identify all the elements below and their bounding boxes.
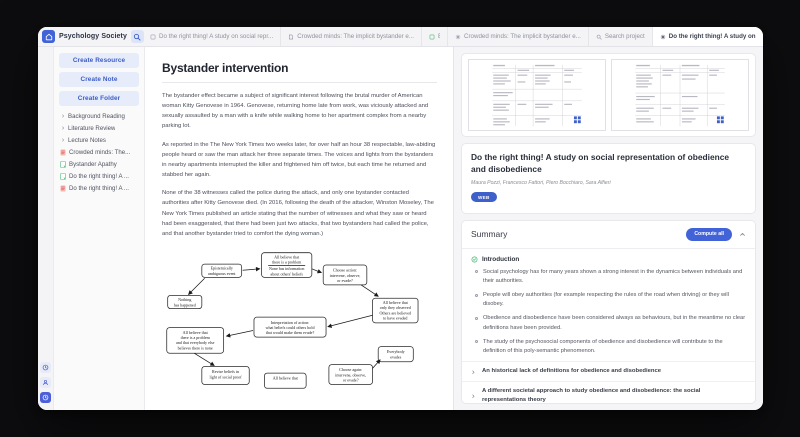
document-pane: Bystander intervention The bystander eff… bbox=[145, 47, 453, 410]
svg-text:evades: evades bbox=[390, 354, 401, 359]
sidebar-item-background-reading[interactable]: Background Reading bbox=[59, 110, 139, 122]
create-folder-button[interactable]: Create Folder bbox=[59, 91, 139, 106]
tab-0[interactable]: Do the right thing! A study on social re… bbox=[143, 27, 281, 46]
svg-text:All believe that: All believe that bbox=[273, 376, 299, 381]
pdf-page-thumbnail-1[interactable] bbox=[468, 59, 606, 131]
pdf-icon bbox=[60, 185, 66, 192]
app-window: Psychology Society Do the right thing! A… bbox=[38, 27, 763, 410]
search-icon[interactable] bbox=[131, 30, 144, 43]
svg-text:Epistemically: Epistemically bbox=[211, 266, 234, 271]
tab-1[interactable]: Crowded minds: The implicit bystander e.… bbox=[281, 27, 422, 46]
svg-text:Nothing: Nothing bbox=[178, 297, 191, 302]
pdf-icon bbox=[288, 34, 294, 40]
bullet-text: The study of the psychosocial components… bbox=[483, 338, 746, 356]
home-icon[interactable] bbox=[42, 30, 55, 43]
sidebar-item-literature-review[interactable]: Literature Review bbox=[59, 122, 139, 134]
tab-label: B bbox=[438, 33, 440, 40]
paper-title: Do the right thing! A study on social re… bbox=[471, 152, 746, 176]
svg-text:Others are believed: Others are believed bbox=[379, 310, 411, 315]
tab-label: Search project bbox=[605, 33, 645, 40]
svg-text:Everybody: Everybody bbox=[387, 349, 406, 354]
svg-text:there is a problem: there is a problem bbox=[181, 335, 211, 340]
sparkle-icon bbox=[660, 34, 666, 40]
svg-text:ambiguous event: ambiguous event bbox=[208, 271, 237, 276]
summary-section-societal-approach[interactable]: A different societal approach to study o… bbox=[462, 381, 755, 410]
svg-text:All believe that: All believe that bbox=[383, 300, 409, 305]
svg-text:only they observed: only they observed bbox=[380, 305, 411, 310]
sidebar-item-label: Lecture Notes bbox=[68, 137, 106, 144]
search-icon bbox=[596, 34, 602, 40]
svg-text:there is a problem: there is a problem bbox=[272, 260, 302, 265]
svg-text:what beliefs could others hold: what beliefs could others hold bbox=[266, 325, 315, 330]
account-icon[interactable] bbox=[40, 377, 51, 388]
sidebar-item-label: Crowded minds: The... bbox=[69, 149, 130, 156]
paragraph-3: None of the 38 witnesses called the poli… bbox=[162, 188, 437, 239]
svg-text:All believe that: All believe that bbox=[274, 254, 300, 259]
paper-authors: Maura Pozzi, Francesco Fattori, Piero Bo… bbox=[471, 180, 746, 186]
note-icon bbox=[150, 34, 156, 40]
file-tree: Background Reading Literature Review Lec… bbox=[59, 110, 139, 194]
create-resource-button[interactable]: Create Resource bbox=[59, 53, 139, 68]
sidebar-item-label: Do the right thing! A ... bbox=[69, 173, 129, 180]
left-rail bbox=[38, 47, 54, 410]
tab-5-active[interactable]: Do the right thing! A study on bbox=[653, 27, 763, 46]
chevron-right-icon bbox=[471, 394, 476, 399]
paper-metadata-card: Do the right thing! A study on social re… bbox=[461, 143, 756, 214]
history-icon[interactable] bbox=[40, 362, 51, 373]
tab-3[interactable]: Crowded minds: The implicit bystander e.… bbox=[448, 27, 589, 46]
brand-zone: Psychology Society bbox=[38, 27, 143, 46]
tab-2[interactable]: B bbox=[422, 27, 448, 46]
svg-text:Revise beliefs in: Revise beliefs in bbox=[212, 369, 239, 374]
bullet-dot-icon bbox=[475, 340, 478, 343]
sidebar-item-label: Do the right thing! A ... bbox=[69, 185, 129, 192]
title-bar: Psychology Society Do the right thing! A… bbox=[38, 27, 763, 47]
page-title: Bystander intervention bbox=[162, 61, 437, 75]
sidebar-item-label: Background Reading bbox=[68, 113, 125, 120]
paragraph-1: The bystander effect became a subject of… bbox=[162, 91, 437, 132]
tab-strip: Do the right thing! A study on social re… bbox=[143, 27, 763, 46]
svg-text:about others' beliefs: about others' beliefs bbox=[270, 271, 303, 276]
sidebar-item-do-the-right-thing-pdf[interactable]: Do the right thing! A ... bbox=[59, 182, 139, 194]
svg-text:light of social proof: light of social proof bbox=[209, 374, 242, 379]
section-title: Introduction bbox=[482, 256, 519, 263]
summary-section-introduction: Introduction Social psychology has for m… bbox=[462, 249, 755, 362]
svg-text:or evade?: or evade? bbox=[343, 378, 359, 383]
compute-all-button[interactable]: Compute all bbox=[686, 228, 732, 241]
note-icon bbox=[60, 161, 66, 168]
tab-label: Do the right thing! A study on bbox=[669, 33, 756, 40]
sidebar-item-do-the-right-thing-note[interactable]: Do the right thing! A ... bbox=[59, 170, 139, 182]
paragraph-2: As reported in the The New York Times tw… bbox=[162, 140, 437, 181]
tab-4[interactable]: Search project bbox=[589, 27, 653, 46]
svg-text:Choose action:: Choose action: bbox=[333, 268, 357, 273]
svg-text:Interpretation of action:: Interpretation of action: bbox=[271, 320, 310, 325]
section-title: An historical lack of definitions for ob… bbox=[482, 367, 661, 376]
section-title: A different societal approach to study o… bbox=[482, 387, 746, 405]
tab-label: Crowded minds: The implicit bystander e.… bbox=[297, 33, 414, 40]
tab-label: Crowded minds: The implicit bystander e.… bbox=[464, 33, 581, 40]
sidebar: Create Resource Create Note Create Folde… bbox=[54, 47, 145, 410]
pdf-icon bbox=[60, 149, 66, 156]
window-body: Create Resource Create Note Create Folde… bbox=[38, 47, 763, 410]
svg-text:All believe that: All believe that bbox=[183, 330, 209, 335]
chevron-right-icon bbox=[60, 126, 65, 131]
chevron-up-icon[interactable] bbox=[738, 230, 746, 238]
title-divider bbox=[162, 82, 437, 83]
right-panel: Do the right thing! A study on social re… bbox=[453, 47, 763, 410]
sidebar-item-crowded-minds[interactable]: Crowded minds: The... bbox=[59, 146, 139, 158]
section-label-row[interactable]: Introduction bbox=[471, 256, 746, 263]
sparkle-icon bbox=[455, 34, 461, 40]
summary-header: Summary Compute all bbox=[462, 221, 755, 249]
svg-text:and that everybody else: and that everybody else bbox=[176, 340, 215, 345]
bullet-text: Obedience and disobedience have been con… bbox=[483, 314, 746, 332]
note-icon bbox=[429, 34, 435, 40]
sidebar-item-label: Literature Review bbox=[68, 125, 115, 132]
bullet-text: Social psychology has for many years sho… bbox=[483, 268, 746, 286]
status-badge: WEB bbox=[471, 192, 497, 202]
project-title: Psychology Society bbox=[59, 33, 127, 40]
list-item: Obedience and disobedience have been con… bbox=[475, 314, 746, 332]
list-item: The study of the psychosocial components… bbox=[475, 338, 746, 356]
assistant-icon[interactable] bbox=[40, 392, 51, 403]
chevron-right-icon bbox=[471, 369, 476, 374]
bullet-text: People will obey authorities (for exampl… bbox=[483, 291, 746, 309]
chevron-right-icon bbox=[60, 138, 65, 143]
svg-text:to have evaded: to have evaded bbox=[383, 316, 407, 321]
svg-text:believes there is none: believes there is none bbox=[178, 345, 213, 350]
svg-text:or evade?: or evade? bbox=[337, 278, 353, 283]
summary-section-historical-lack[interactable]: An historical lack of definitions for ob… bbox=[462, 361, 755, 381]
pdf-preview-card bbox=[461, 53, 756, 137]
list-item: Social psychology has for many years sho… bbox=[475, 268, 746, 286]
bullet-dot-icon bbox=[475, 317, 478, 320]
sidebar-item-label: Bystander Apathy bbox=[69, 161, 117, 168]
summary-heading: Summary bbox=[471, 229, 680, 239]
sidebar-item-bystander-apathy[interactable]: Bystander Apathy bbox=[59, 158, 139, 170]
svg-text:None has information: None has information bbox=[269, 266, 304, 271]
check-circle-icon bbox=[471, 256, 478, 263]
chevron-right-icon bbox=[60, 114, 65, 119]
svg-text:that would make them evade?: that would make them evade? bbox=[266, 330, 315, 335]
sidebar-item-lecture-notes[interactable]: Lecture Notes bbox=[59, 134, 139, 146]
svg-text:has happened: has happened bbox=[174, 302, 196, 307]
note-icon bbox=[60, 173, 66, 180]
list-item: People will obey authorities (for exampl… bbox=[475, 291, 746, 309]
svg-text:Choose again:: Choose again: bbox=[339, 367, 362, 372]
create-note-button[interactable]: Create Note bbox=[59, 72, 139, 87]
pdf-page-thumbnail-2[interactable] bbox=[611, 59, 749, 131]
bullet-dot-icon bbox=[475, 270, 478, 273]
bystander-flowchart-figure: .nb { fill:#fff; stroke:#2a2a2a; stroke-… bbox=[162, 247, 437, 397]
tab-label: Do the right thing! A study on social re… bbox=[159, 33, 273, 40]
summary-bullets: Social psychology has for many years sho… bbox=[471, 268, 746, 357]
summary-card: Summary Compute all Introduction Social … bbox=[461, 220, 756, 404]
bullet-dot-icon bbox=[475, 294, 478, 297]
